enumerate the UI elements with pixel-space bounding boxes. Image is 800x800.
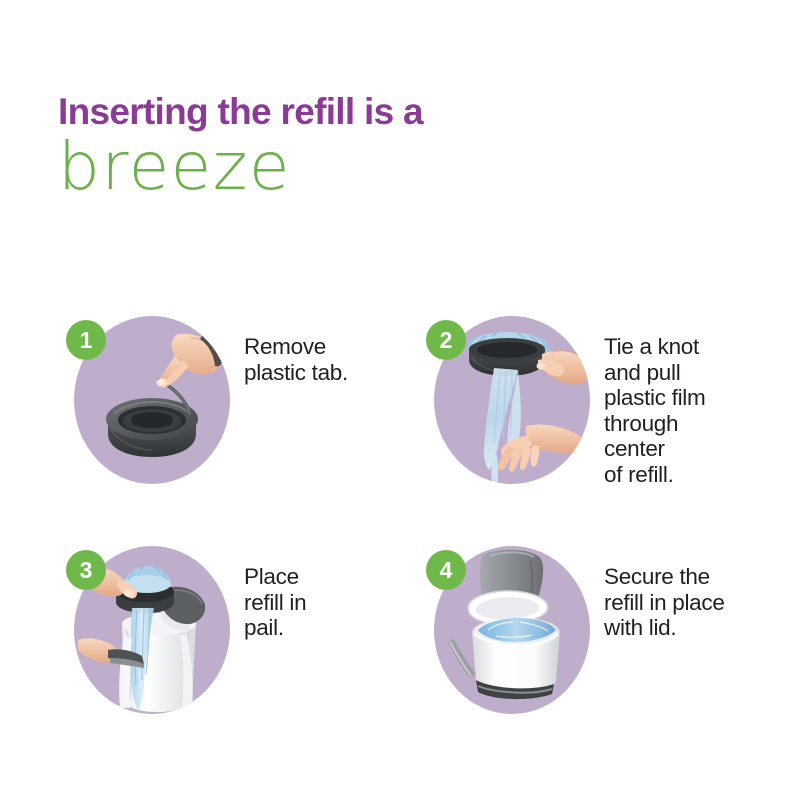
steps-container: 1 Remove plastic tab. [0,316,800,776]
step-1-badge: 1 [66,320,106,360]
step-1-text: Remove plastic tab. [244,334,420,385]
headline: Inserting the refill is a breeze [58,92,698,200]
step-2-text: Tie a knot and pull plastic film through… [604,334,780,487]
step-3-figure: 3 [74,546,230,714]
step-4-figure: 4 [434,546,590,714]
headline-line-1: Inserting the refill is a [58,92,698,132]
step-3-badge: 3 [66,550,106,590]
steps-row-2: 3 Place refill in pail. [0,546,800,776]
step-3-text: Place refill in pail. [244,564,420,641]
step-2-figure: 2 [434,316,590,484]
steps-row-1: 1 Remove plastic tab. [0,316,800,546]
step-1-figure: 1 [74,316,230,484]
step-4-badge: 4 [426,550,466,590]
step-4-text: Secure the refill in place with lid. [604,564,800,641]
step-3: 3 Place refill in pail. [58,546,418,756]
step-1: 1 Remove plastic tab. [58,316,418,526]
step-2: 2 Tie a knot and pull plastic film throu… [418,316,778,526]
hand-graphic-upper [537,351,589,385]
step-2-badge: 2 [426,320,466,360]
headline-line-2-brand: breeze [58,134,698,200]
step-4: 4 Secure the refill in place with lid. [418,546,778,756]
hand-graphic [156,334,222,388]
infographic-page: Inserting the refill is a breeze [0,0,800,800]
